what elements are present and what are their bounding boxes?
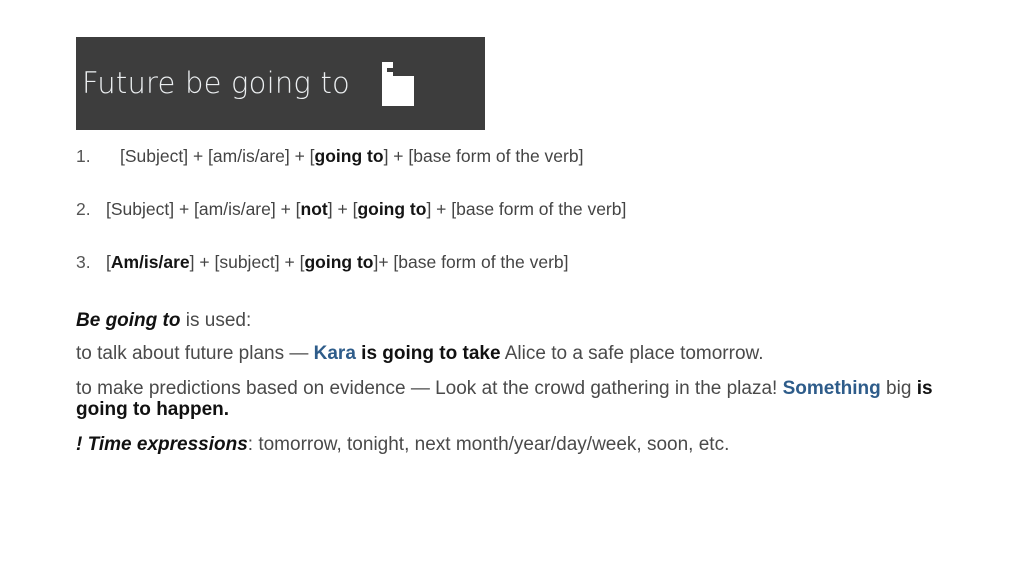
formula-number-3: 3. xyxy=(76,252,106,273)
usage-heading-rest: is used: xyxy=(180,310,251,331)
point-two-intro: to make predictions based on evidence — … xyxy=(76,378,783,399)
point-two-tail: . xyxy=(224,399,229,420)
formula-number-2: 2. xyxy=(76,199,106,220)
formula-1-seg-0: [Subject] + [am/is/are] + [ xyxy=(120,146,315,166)
usage-point-one: to talk about future plans — Kara is goi… xyxy=(76,343,956,364)
point-two-middle: big xyxy=(881,378,917,399)
point-one-verb: is going to take xyxy=(356,343,501,364)
formula-3-seg-4: ]+ [base form of the verb] xyxy=(373,252,568,272)
formula-item-3: 3. [Am/is/are] + [subject] + [going to]+… xyxy=(76,252,956,273)
point-one-subject: Kara xyxy=(314,343,356,364)
formula-2-seg-0: [Subject] + [am/is/are] + [ xyxy=(106,199,301,219)
usage-time-note: ! Time expressions: tomorrow, tonight, n… xyxy=(76,434,956,455)
slide-canvas: Future be going to 1. [Subject] + [am/is… xyxy=(0,0,1011,568)
formula-2-seg-3: going to xyxy=(357,199,426,219)
formula-3-seg-1: Am/is/are xyxy=(111,252,190,272)
usage-heading: Be going to is used: xyxy=(76,310,956,331)
time-note-emphasis: ! Time expressions xyxy=(76,434,248,455)
formula-3-seg-2: ] + [subject] + [ xyxy=(190,252,305,272)
formula-number-1: 1. xyxy=(76,146,120,167)
formula-text-3: [Am/is/are] + [subject] + [going to]+ [b… xyxy=(106,252,956,273)
formula-2-seg-4: ] + [base form of the verb] xyxy=(426,199,626,219)
formula-1-seg-1: going to xyxy=(315,146,384,166)
formula-2-seg-1: not xyxy=(301,199,328,219)
formula-item-2: 2. [Subject] + [am/is/are] + [not] + [go… xyxy=(76,199,956,220)
point-one-tail: Alice to a safe place tomorrow. xyxy=(501,343,764,364)
formula-item-1: 1. [Subject] + [am/is/are] + [going to] … xyxy=(76,146,956,167)
point-one-intro: to talk about future plans — xyxy=(76,343,314,364)
usage-heading-emphasis: Be going to xyxy=(76,310,180,331)
formula-2-seg-2: ] + [ xyxy=(328,199,358,219)
title-banner: Future be going to xyxy=(76,37,485,130)
page-title: Future be going to xyxy=(82,69,350,98)
time-note-rest: : tomorrow, tonight, next month/year/day… xyxy=(248,434,730,455)
usage-block: Be going to is used: to talk about futur… xyxy=(76,310,956,455)
flag-square-icon xyxy=(376,62,414,106)
formula-list: 1. [Subject] + [am/is/are] + [going to] … xyxy=(76,146,956,273)
formula-3-seg-3: going to xyxy=(304,252,373,272)
point-two-subject: Something xyxy=(783,378,881,399)
usage-point-two: to make predictions based on evidence — … xyxy=(76,378,956,421)
formula-text-1: [Subject] + [am/is/are] + [going to] + [… xyxy=(120,146,956,167)
formula-1-seg-2: ] + [base form of the verb] xyxy=(384,146,584,166)
formula-text-2: [Subject] + [am/is/are] + [not] + [going… xyxy=(106,199,956,220)
